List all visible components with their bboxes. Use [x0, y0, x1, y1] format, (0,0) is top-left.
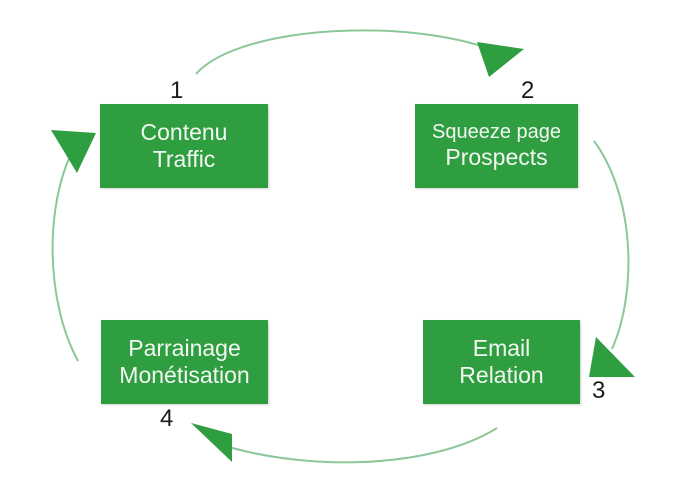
node-label-line1: Squeeze page — [432, 121, 561, 145]
node-label-line2: Traffic — [153, 146, 216, 173]
arc-right — [594, 141, 628, 349]
step-number-4: 4 — [160, 407, 173, 431]
arrowhead-2-to-3 — [589, 337, 635, 377]
step-number-2: 2 — [521, 79, 534, 103]
cycle-diagram-canvas: Contenu Traffic Squeeze page Prospects E… — [0, 0, 691, 500]
arrowhead-3-to-4 — [191, 423, 232, 462]
node-label-line1: Contenu — [141, 119, 228, 146]
node-label-line2: Monétisation — [119, 362, 249, 389]
arc-left — [53, 150, 78, 361]
arc-bottom — [213, 428, 497, 462]
node-contenu-traffic[interactable]: Contenu Traffic — [100, 104, 268, 188]
node-label-line2: Prospects — [445, 144, 547, 171]
node-squeeze-page-prospects[interactable]: Squeeze page Prospects — [415, 104, 578, 188]
cycle-arrows-layer — [0, 0, 691, 500]
node-parrainage-monetisation[interactable]: Parrainage Monétisation — [101, 320, 268, 404]
arrowhead-1-to-2 — [477, 42, 524, 77]
arc-top — [196, 30, 505, 74]
node-label-line2: Relation — [459, 362, 543, 389]
node-label-line1: Parrainage — [128, 335, 241, 362]
node-label-line1: Email — [473, 335, 531, 362]
node-email-relation[interactable]: Email Relation — [423, 320, 580, 404]
step-number-1: 1 — [170, 79, 183, 103]
step-number-3: 3 — [592, 379, 605, 403]
arrowhead-4-to-1 — [51, 130, 96, 173]
